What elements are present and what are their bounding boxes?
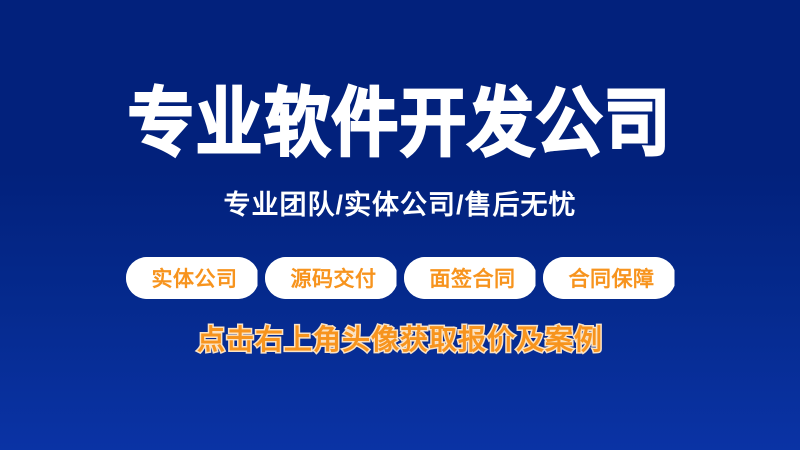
cta-container: 点击右上角头像获取报价及案例 — [0, 326, 800, 354]
badge-item[interactable]: 源码交付 — [265, 257, 397, 299]
badge-label: 源码交付 — [291, 263, 377, 293]
badge-item[interactable]: 实体公司 — [126, 257, 258, 299]
badge-label: 合同保障 — [569, 263, 655, 293]
badge-item[interactable]: 合同保障 — [543, 257, 675, 299]
page-title: 专业软件开发公司 — [128, 86, 672, 160]
title-container: 专业软件开发公司 — [0, 86, 800, 152]
badge-item[interactable]: 面签合同 — [404, 257, 536, 299]
subtitle-container: 专业团队/实体公司/售后无忧 — [0, 192, 800, 219]
badge-list: 实体公司 源码交付 面签合同 合同保障 — [0, 257, 800, 299]
badge-label: 面签合同 — [430, 263, 516, 293]
cta-text: 点击右上角头像获取报价及案例 — [197, 326, 603, 354]
badge-label: 实体公司 — [152, 263, 238, 293]
page-subtitle: 专业团队/实体公司/售后无忧 — [223, 192, 576, 219]
promo-banner: 专业软件开发公司 专业团队/实体公司/售后无忧 实体公司 源码交付 面签合同 合… — [0, 0, 800, 450]
